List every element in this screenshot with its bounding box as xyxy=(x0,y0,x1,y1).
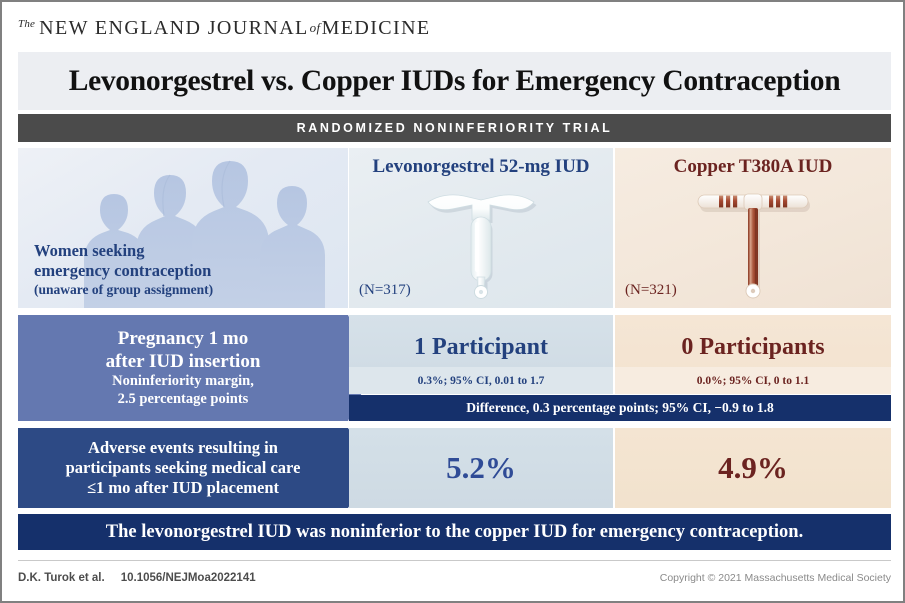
arm-title-levonorgestrel: Levonorgestrel 52-mg IUD xyxy=(349,156,613,178)
masthead-name-main: NEW ENGLAND JOURNAL xyxy=(39,17,309,40)
journal-masthead: TheNEW ENGLAND JOURNALofMEDICINE xyxy=(18,14,618,42)
subtitle-bar: RANDOMIZED NONINFERIORITY TRIAL xyxy=(18,114,891,142)
copper-iud-icon xyxy=(678,184,828,304)
pregnancy-ci-text-levonorgestrel: 0.3%; 95% CI, 0.01 to 1.7 xyxy=(418,375,545,387)
page-title: Levonorgestrel vs. Copper IUDs for Emerg… xyxy=(69,65,841,98)
difference-bar: Difference, 0.3 percentage points; 95% C… xyxy=(349,395,891,421)
outcome-label-pregnancy: Pregnancy 1 mo after IUD insertion Nonin… xyxy=(18,315,348,421)
adverse-value-levonorgestrel: 5.2% xyxy=(349,428,613,508)
population-line-3: (unaware of group assignment) xyxy=(34,282,213,298)
masthead-the: The xyxy=(18,18,35,30)
difference-text: Difference, 0.3 percentage points; 95% C… xyxy=(466,400,774,416)
adverse-value-copper: 4.9% xyxy=(615,428,891,508)
adverse-percent-levonorgestrel: 5.2% xyxy=(446,450,516,486)
arm-n-copper: (N=321) xyxy=(625,282,677,299)
arm-panel-levonorgestrel: Levonorgestrel 52-mg IUD xyxy=(349,148,613,308)
levonorgestrel-iud-icon xyxy=(406,184,556,304)
trial-design-label: RANDOMIZED NONINFERIORITY TRIAL xyxy=(297,121,613,135)
population-line-1: Women seeking xyxy=(34,241,213,261)
masthead-name-tail: MEDICINE xyxy=(322,17,431,40)
arm-title-copper: Copper T380A IUD xyxy=(615,156,891,178)
pregnancy-ci-copper: 0.0%; 95% CI, 0 to 1.1 xyxy=(615,367,891,394)
pregnancy-margin-line-2: 2.5 percentage points xyxy=(106,391,261,408)
footer-copyright: Copyright © 2021 Massachusetts Medical S… xyxy=(660,572,891,584)
conclusion-bar: The levonorgestrel IUD was noninferior t… xyxy=(18,514,891,550)
outcome-label-adverse-events: Adverse events resulting in participants… xyxy=(18,428,348,508)
arm-n-levonorgestrel: (N=317) xyxy=(359,282,411,299)
pregnancy-count-copper: 0 Participants xyxy=(681,334,824,361)
conclusion-text: The levonorgestrel IUD was noninferior t… xyxy=(106,522,803,543)
pregnancy-label-line-1: Pregnancy 1 mo xyxy=(106,328,261,351)
footer-doi[interactable]: 10.1056/NEJMoa2022141 xyxy=(121,572,256,584)
population-line-2: emergency contraception xyxy=(34,261,213,281)
footer: D.K. Turok et al. 10.1056/NEJMoa2022141 … xyxy=(18,567,891,589)
pregnancy-count-levonorgestrel: 1 Participant xyxy=(414,334,548,361)
masthead-name-of: of xyxy=(309,20,322,36)
pregnancy-ci-levonorgestrel: 0.3%; 95% CI, 0.01 to 1.7 xyxy=(349,367,613,394)
adverse-label-line-1: Adverse events resulting in xyxy=(66,438,301,458)
nejm-visual-abstract: TheNEW ENGLAND JOURNALofMEDICINE Levonor… xyxy=(0,0,905,603)
arm-panel-copper: Copper T380A IUD xyxy=(615,148,891,308)
population-panel: Women seeking emergency contraception (u… xyxy=(18,148,348,308)
adverse-label-line-2: participants seeking medical care xyxy=(66,458,301,478)
adverse-label-line-3: ≤1 mo after IUD placement xyxy=(66,478,301,498)
title-band: Levonorgestrel vs. Copper IUDs for Emerg… xyxy=(18,52,891,110)
pregnancy-label-line-2: after IUD insertion xyxy=(106,351,261,374)
pregnancy-ci-text-copper: 0.0%; 95% CI, 0 to 1.1 xyxy=(697,375,809,387)
footer-divider xyxy=(18,560,891,561)
adverse-percent-copper: 4.9% xyxy=(718,450,788,486)
footer-authors: D.K. Turok et al. xyxy=(18,572,105,584)
population-caption: Women seeking emergency contraception (u… xyxy=(34,241,213,298)
pregnancy-margin-line-1: Noninferiority margin, xyxy=(106,373,261,390)
